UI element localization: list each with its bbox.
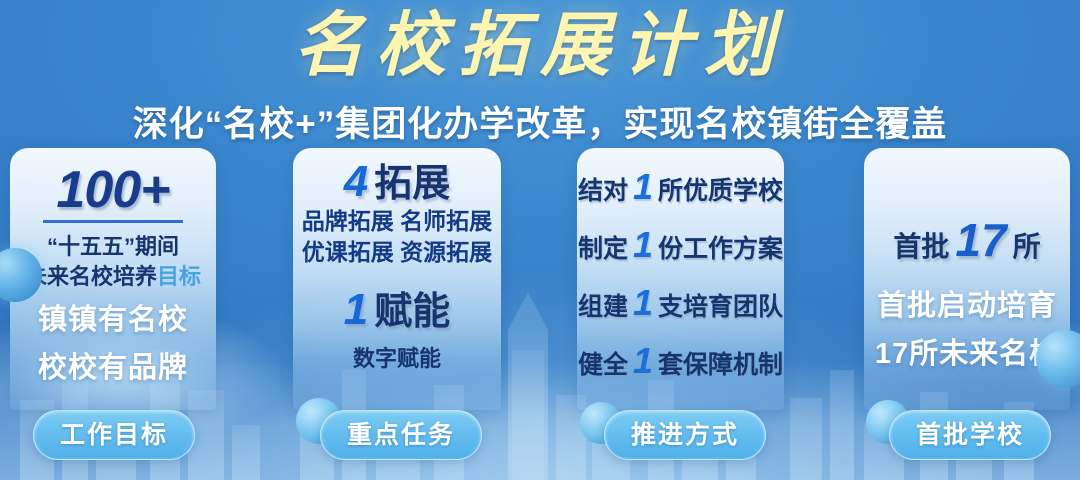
card3-row-3-prefix: 组建 bbox=[578, 293, 628, 321]
card2-head-row-2: 1赋能 bbox=[293, 288, 501, 334]
card4-number-17: 17 bbox=[949, 214, 1012, 266]
card2-items-row-1: 品牌拓展 名师拓展 bbox=[293, 206, 501, 237]
card3-row-1-suffix: 所优质学校 bbox=[658, 177, 783, 205]
card1-big-number: 100+ bbox=[10, 162, 216, 218]
card1-caption-line-2-accent: 目标 bbox=[157, 264, 201, 289]
card-first-batch-schools[interactable]: 首批17所 首批启动培育 17所未来名校 bbox=[864, 148, 1070, 410]
card1-highlight-2: 校校有品牌 bbox=[10, 348, 216, 388]
card4-head-suffix: 所 bbox=[1013, 231, 1041, 262]
card-advance-method[interactable]: 结对1所优质学校 制定1份工作方案 组建1支培育团队 健全1套保障机制 bbox=[577, 148, 784, 410]
card1-underline bbox=[43, 220, 183, 223]
pill-key-tasks[interactable]: 重点任务 bbox=[320, 410, 482, 460]
card4-head-prefix: 首批 bbox=[893, 231, 949, 262]
card1-caption-line-2-prefix: 未来名校培养 bbox=[25, 264, 157, 289]
pill-work-goal[interactable]: 工作目标 bbox=[33, 410, 195, 460]
card2-items-row-2: 优课拓展 资源拓展 bbox=[293, 237, 501, 268]
card2-head-row-1: 4拓展 bbox=[293, 160, 501, 206]
card3-row-4-prefix: 健全 bbox=[578, 351, 628, 379]
card3-row-2: 制定1份工作方案 bbox=[577, 228, 784, 266]
card2-items-row-3: 数字赋能 bbox=[293, 344, 501, 374]
card3-row-2-number: 1 bbox=[628, 224, 658, 265]
page-subtitle: 深化“名校+”集团化办学改革，实现名校镇街全覆盖 bbox=[0, 96, 1080, 147]
page-title: 名校拓展计划 bbox=[0, 4, 1080, 90]
pill-first-batch-schools[interactable]: 首批学校 bbox=[889, 410, 1051, 460]
card3-row-4-suffix: 套保障机制 bbox=[658, 351, 783, 379]
card3-row-1-prefix: 结对 bbox=[578, 177, 628, 205]
card4-highlight-1: 首批启动培育 bbox=[864, 286, 1070, 326]
card3-row-4-number: 1 bbox=[628, 340, 658, 381]
pill-row: 工作目标 重点任务 推进方式 首批学校 bbox=[0, 410, 1080, 470]
card3-row-1: 结对1所优质学校 bbox=[577, 170, 784, 208]
card1-caption-line-2: 未来名校培养目标 bbox=[10, 262, 216, 292]
card-work-goal[interactable]: 100+ “十五五”期间 未来名校培养目标 镇镇有名校 校校有品牌 bbox=[10, 148, 216, 410]
card2-number-1: 1 bbox=[344, 285, 374, 334]
pill-advance-method[interactable]: 推进方式 bbox=[604, 410, 766, 460]
card3-row-3: 组建1支培育团队 bbox=[577, 286, 784, 324]
card3-row-3-number: 1 bbox=[628, 282, 658, 323]
card2-label-funeng: 赋能 bbox=[374, 291, 450, 333]
card3-row-4: 健全1套保障机制 bbox=[577, 344, 784, 382]
cards-row: 100+ “十五五”期间 未来名校培养目标 镇镇有名校 校校有品牌 4拓展 品牌… bbox=[0, 148, 1080, 410]
card4-highlight-2: 17所未来名校 bbox=[864, 334, 1070, 374]
card2-label-tuozhan: 拓展 bbox=[374, 163, 450, 205]
infographic-canvas: 名校拓展计划 深化“名校+”集团化办学改革，实现名校镇街全覆盖 100+ “十五… bbox=[0, 0, 1080, 480]
card-key-tasks[interactable]: 4拓展 品牌拓展 名师拓展 优课拓展 资源拓展 1赋能 数字赋能 bbox=[293, 148, 501, 410]
card1-caption-line-1: “十五五”期间 bbox=[10, 232, 216, 262]
card3-row-3-suffix: 支培育团队 bbox=[658, 293, 783, 321]
card2-number-4: 4 bbox=[344, 157, 374, 206]
card4-head-row: 首批17所 bbox=[864, 220, 1070, 267]
card3-row-1-number: 1 bbox=[628, 166, 658, 207]
card3-row-2-suffix: 份工作方案 bbox=[658, 235, 783, 263]
card1-highlight-1: 镇镇有名校 bbox=[10, 300, 216, 340]
card3-row-2-prefix: 制定 bbox=[578, 235, 628, 263]
